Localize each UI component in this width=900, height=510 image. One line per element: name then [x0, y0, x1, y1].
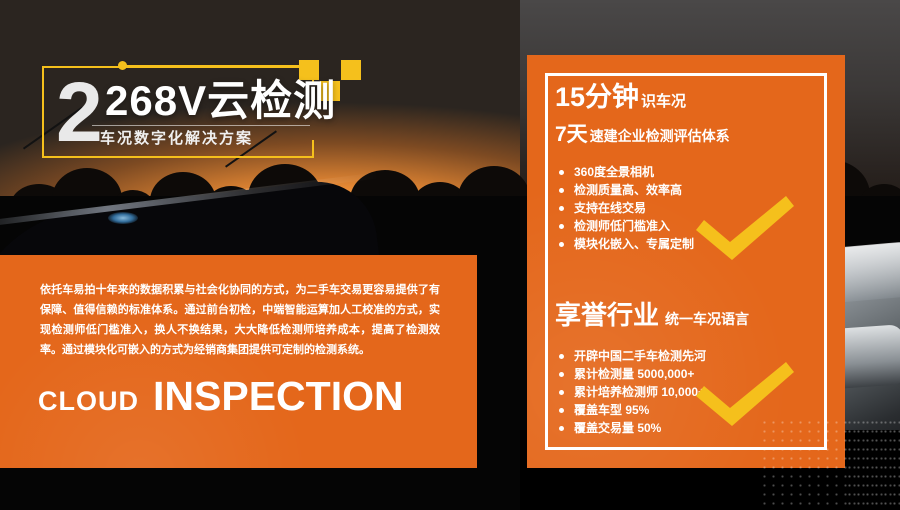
header-dot-marker: [118, 61, 127, 70]
section1-headline-big: 15分钟: [555, 82, 639, 112]
slide-title: 268V云检测: [105, 78, 336, 124]
section1-subline-big: 7天: [555, 123, 588, 146]
section2-headline-big: 享誉行业: [555, 300, 659, 330]
left-description-panel: 依托车易拍十年来的数据积累与社会化协同的方式，为二手车交易更容易提供了有保障、值…: [0, 255, 477, 468]
list-item: 360度全景相机: [559, 163, 825, 181]
logo-word-inspection: INSPECTION: [153, 373, 404, 419]
header-top-rule: [125, 65, 310, 67]
section1-headline: 15分钟识车况: [555, 81, 825, 118]
section1-headline-small: 识车况: [641, 93, 686, 110]
checker-square: [341, 60, 361, 80]
title-divider: [92, 125, 310, 126]
section2-headline: 享誉行业统一车况语言: [555, 299, 825, 335]
check-mark-icon: [690, 192, 800, 264]
dot-grid-decoration-dark: [845, 418, 900, 510]
section2-headline-small: 统一车况语言: [665, 311, 749, 327]
slide-canvas: 2 268V云检测 车况数字化解决方案 依托车易拍十年来的数据积累与社会化协同的…: [0, 0, 900, 510]
section1-subline-small: 速建企业检测评估体系: [590, 128, 730, 144]
slide-subtitle: 车况数字化解决方案: [100, 129, 253, 149]
headlight-glow: [108, 212, 138, 224]
description-paragraph: 依托车易拍十年来的数据积累与社会化协同的方式，为二手车交易更容易提供了有保障、值…: [40, 280, 440, 360]
cloud-inspection-logo: CLOUDINSPECTION: [38, 373, 404, 420]
logo-word-cloud: CLOUD: [38, 386, 139, 416]
slide-number: 2: [56, 70, 101, 154]
section1-subline: 7天速建企业检测评估体系: [555, 120, 825, 151]
